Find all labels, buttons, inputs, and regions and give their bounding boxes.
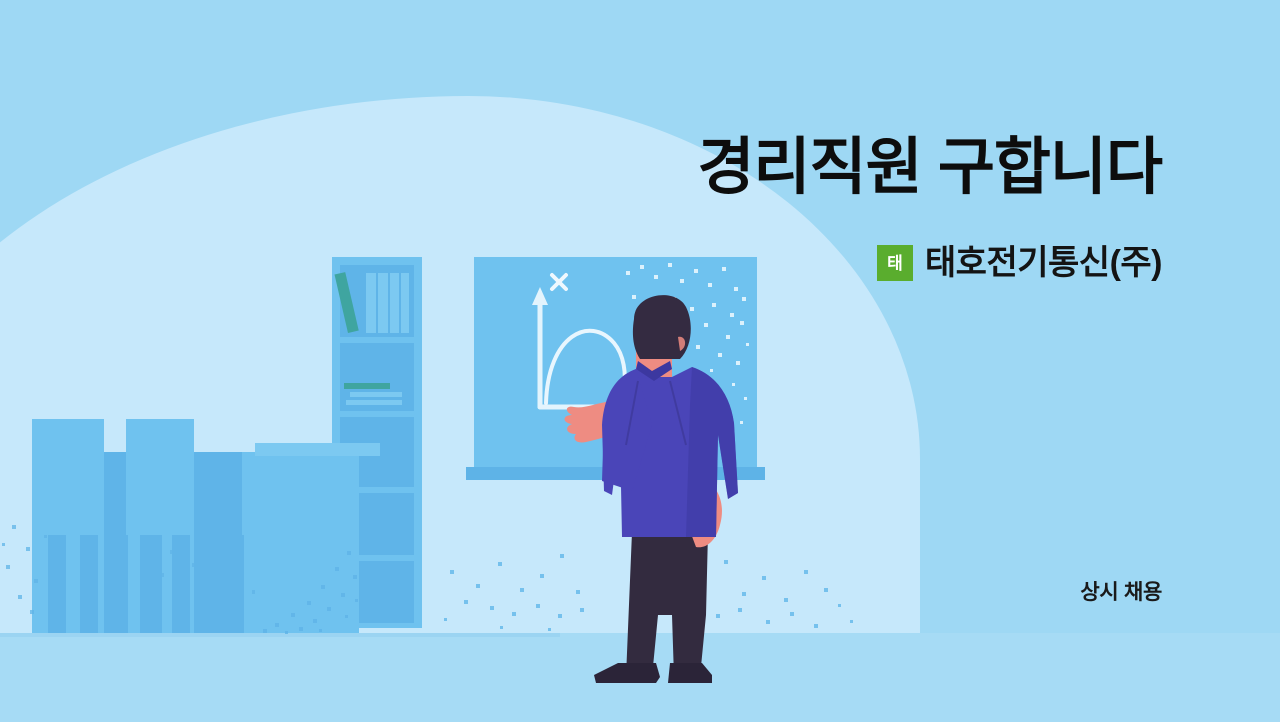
speckle-texture-left (0, 495, 270, 640)
flat-book-3 (346, 400, 402, 405)
flat-book-1 (344, 383, 390, 389)
book-4 (401, 273, 409, 333)
standing-man-back-view (540, 285, 770, 695)
speckle-texture-desk (255, 545, 375, 635)
flat-book-2 (350, 392, 402, 397)
person-trousers (626, 532, 708, 677)
company-row[interactable]: 태 태호전기통신(주) (877, 245, 1162, 281)
bookshelf-shelf-1 (340, 265, 414, 337)
person-shirt-shadow (686, 367, 738, 537)
bookshelf-shelf-2 (340, 343, 414, 411)
book-accent (335, 272, 359, 333)
book-3 (390, 273, 399, 333)
person-shoe-right (668, 663, 712, 683)
person-shoe-left (594, 663, 660, 683)
company-name[interactable]: 태호전기통신(주) (925, 246, 1162, 280)
job-posting-banner: 경리직원 구합니다 태 태호전기통신(주) 상시 채용 (0, 0, 1280, 722)
desk-top-surface (255, 443, 380, 456)
book-2 (378, 273, 388, 333)
company-logo-badge: 태 (877, 245, 913, 281)
book-1 (366, 273, 376, 333)
status-badge: 상시 채용 (1080, 576, 1162, 606)
page-title: 경리직원 구합니다 (697, 137, 1162, 199)
